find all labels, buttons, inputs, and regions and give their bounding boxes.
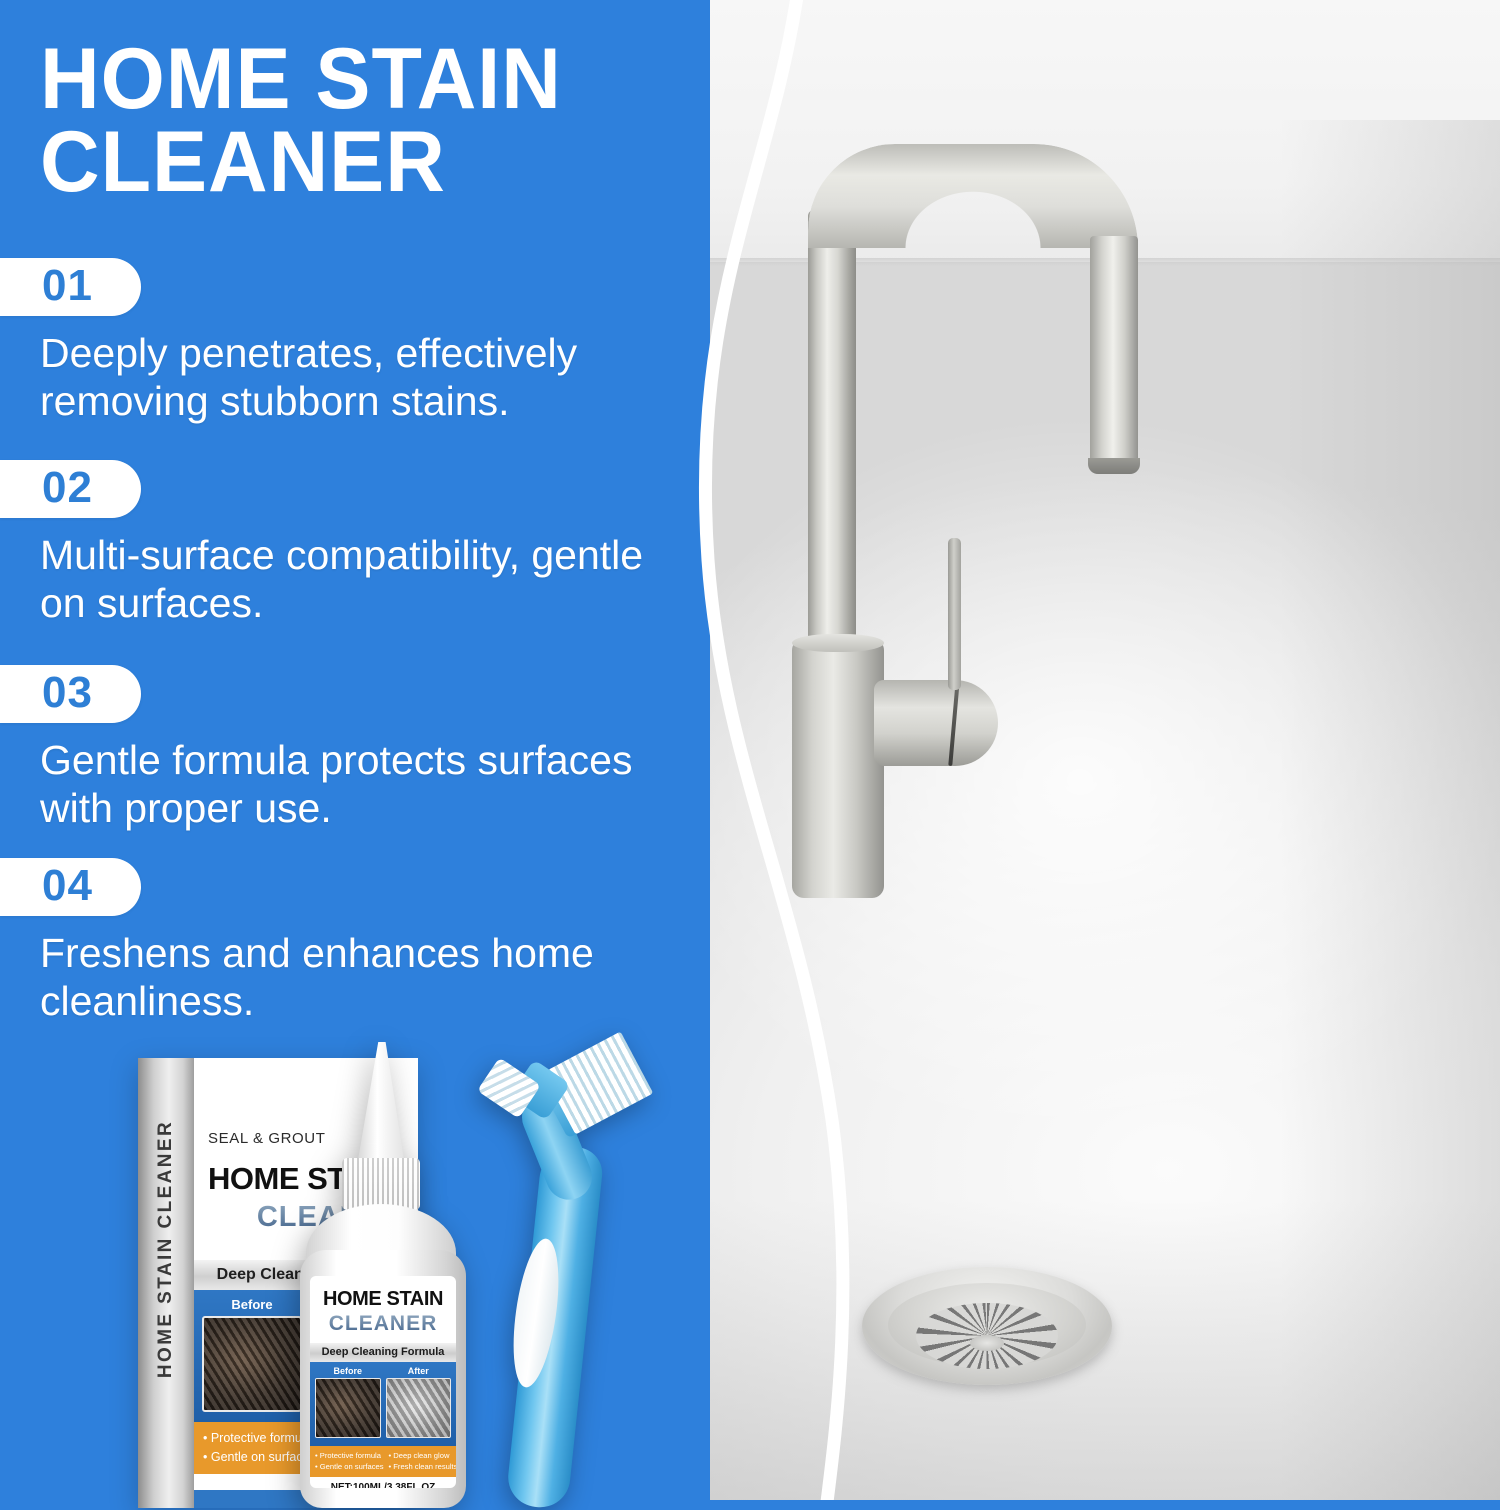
faucet-spout <box>1090 236 1138 468</box>
feature-badge-4: 04 <box>0 858 141 916</box>
bottle-brand-line-1: HOME STAIN <box>310 1288 456 1311</box>
bottle-bullets-right: • Deep clean glow • Fresh clean results <box>389 1450 456 1473</box>
bottle-bullets-left: • Protective formula • Gentle on surface… <box>315 1450 384 1473</box>
faucet-spout-tip <box>1088 458 1140 474</box>
feature-text-4: Freshens and enhances home cleanliness. <box>0 930 700 1025</box>
bottle-cap <box>342 1158 420 1210</box>
page-title-line-2: CLEANER <box>40 121 712 204</box>
feature-item-1: 01 Deeply penetrates, effectively removi… <box>0 258 740 425</box>
feature-item-2: 02 Multi-surface compatibility, gentle o… <box>0 460 740 627</box>
bottle-bullet-1: • Protective formula <box>315 1450 384 1461</box>
bottle-bullet-2: • Gentle on surfaces <box>315 1461 384 1472</box>
feature-badge-1: 01 <box>0 258 141 316</box>
bottle-after-column: After <box>386 1366 452 1443</box>
page-title: HOME STAIN CLEANER <box>40 38 712 203</box>
bottle-before-after-panel: Before After <box>310 1362 456 1446</box>
product-group-image: HOME STAIN CLEANER SEAL & GROUT HOME STA… <box>120 1040 640 1510</box>
feature-item-4: 04 Freshens and enhances home cleanlines… <box>0 858 740 1025</box>
bottle-brand-line-2: CLEANER <box>310 1312 456 1336</box>
bottle-bullet-3: • Deep clean glow <box>389 1450 456 1461</box>
cleaning-brush-icon <box>488 1050 648 1510</box>
feature-badge-2: 02 <box>0 460 141 518</box>
feature-badge-3: 03 <box>0 665 141 723</box>
bottle-bullet-band: • Protective formula • Gentle on surface… <box>310 1446 456 1477</box>
feature-text-2: Multi-surface compatibility, gentle on s… <box>0 532 700 627</box>
bottle-formula-band: Deep Cleaning Formula <box>310 1343 456 1362</box>
bottle-before-label: Before <box>333 1366 362 1376</box>
carton-spine: HOME STAIN CLEANER <box>138 1058 194 1508</box>
feature-text-1: Deeply penetrates, effectively removing … <box>0 330 700 425</box>
left-content-panel: HOME STAIN CLEANER 01 Deeply penetrates,… <box>0 0 760 1500</box>
feature-text-3: Gentle formula protects surfaces with pr… <box>0 737 700 832</box>
faucet-handle-lever <box>948 538 961 690</box>
carton-before-column: Before <box>202 1297 302 1416</box>
page-title-line-1: HOME STAIN <box>40 38 712 121</box>
bottle-bullet-4: • Fresh clean results <box>389 1461 456 1472</box>
bottle-label: HOME STAIN CLEANER Deep Cleaning Formula… <box>310 1276 456 1488</box>
bottle-net-weight: NET:100ML/3.38FL.OZ <box>310 1477 456 1488</box>
carton-before-image <box>202 1316 302 1412</box>
carton-spine-text: HOME STAIN CLEANER <box>155 1079 177 1419</box>
bottle-before-column: Before <box>315 1366 381 1443</box>
bottle-after-image <box>386 1378 452 1438</box>
feature-item-3: 03 Gentle formula protects surfaces with… <box>0 665 740 832</box>
product-bottle: HOME STAIN CLEANER Deep Cleaning Formula… <box>298 1130 508 1510</box>
bottle-after-label: After <box>408 1366 429 1376</box>
bottle-before-image <box>315 1378 381 1438</box>
carton-before-label: Before <box>231 1297 272 1312</box>
